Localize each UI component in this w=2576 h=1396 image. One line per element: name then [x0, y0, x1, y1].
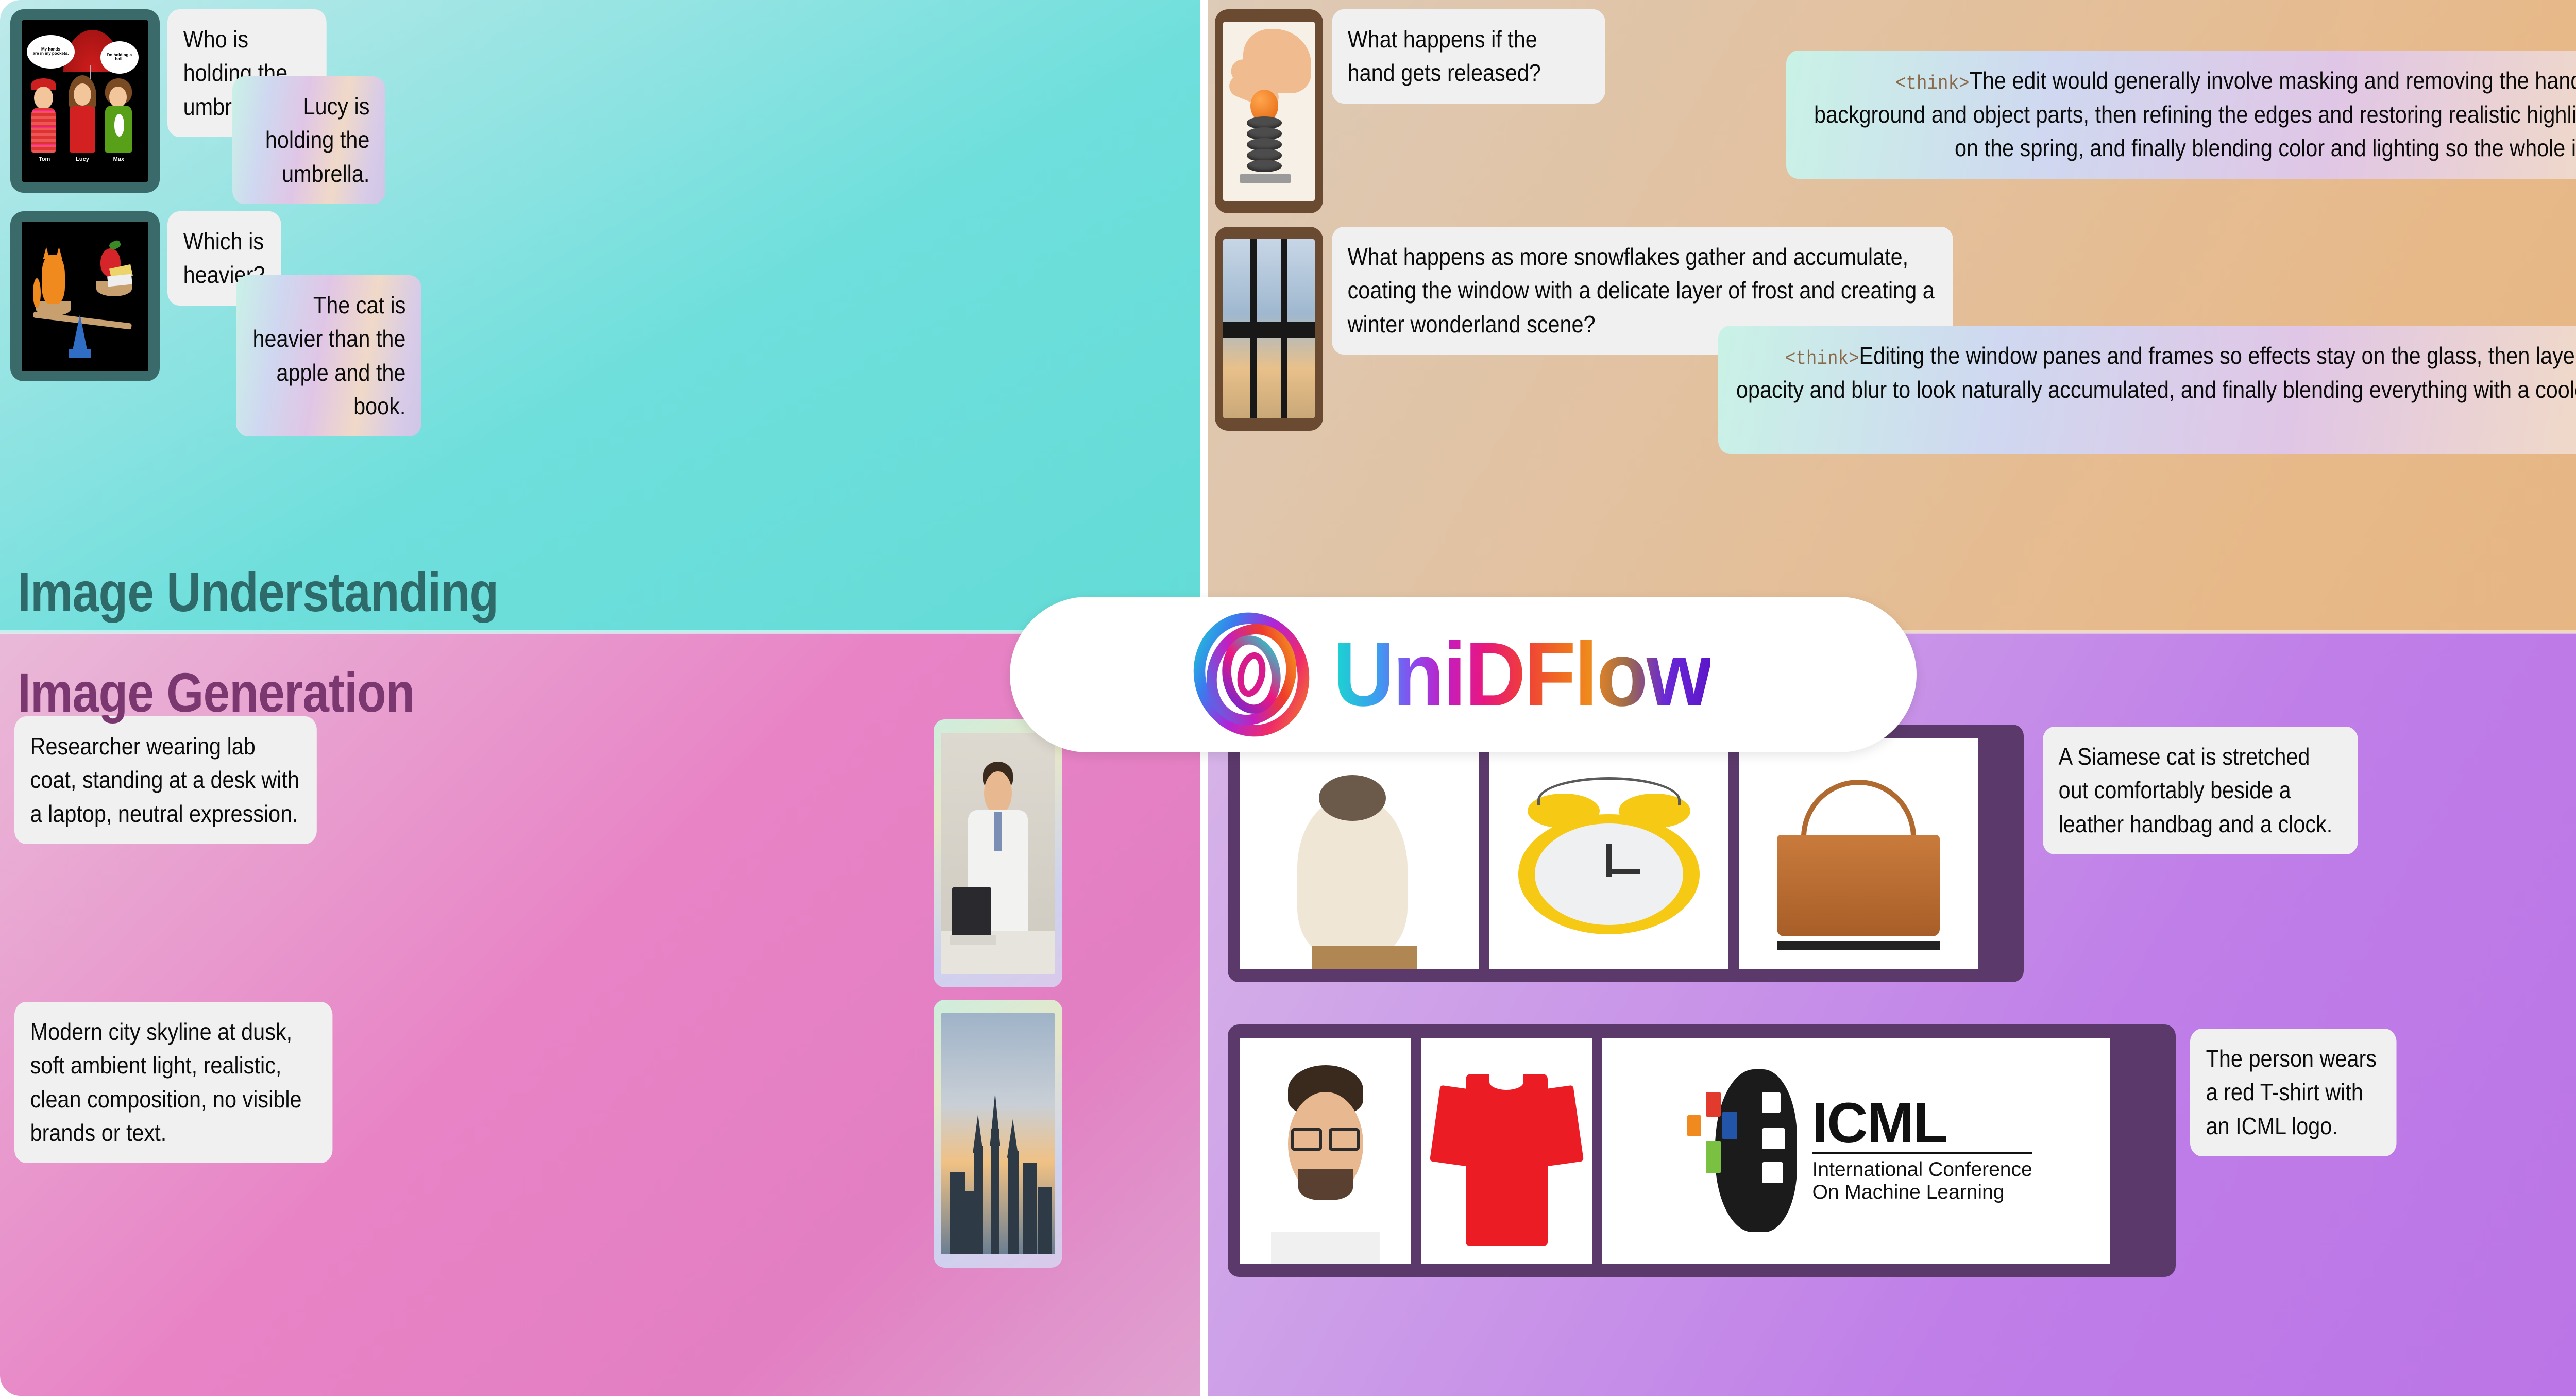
poster-canvas: My handsare in my pockets. I'm holding a…	[0, 0, 2576, 1396]
balance-scale-illustration	[22, 222, 149, 371]
reference-image-red-tshirt	[1421, 1038, 1592, 1264]
hand-on-spring-illustration	[1223, 22, 1315, 201]
flow-swirl-icon	[1187, 610, 1316, 739]
reference-image-icml-logo: ICML International Conference On Machine…	[1602, 1038, 2110, 1264]
reference-image-man-portrait	[1240, 1038, 1411, 1264]
speech-bubble-2: I'm holding aball.	[100, 41, 139, 74]
kids-umbrella-illustration: My handsare in my pockets. I'm holding a…	[22, 20, 149, 181]
editing-row-1-think-bubble: <think>The edit would generally involve …	[1786, 51, 2576, 179]
editing-row-2-think-text: Editing the window panes and frames so e…	[1736, 342, 2576, 436]
panel-divider-left	[0, 630, 1200, 634]
panel-image-generation: Researcher wearing lab coat, standing at…	[0, 633, 1200, 1396]
understanding-row-1-input-frame: My handsare in my pockets. I'm holding a…	[10, 9, 160, 193]
panel-thinking-based-image-editing: What happens if the hand gets released? …	[1208, 0, 2576, 633]
reference-image-siamese-cat	[1240, 738, 1479, 969]
multi-row-2-reference-strip: ICML International Conference On Machine…	[1228, 1024, 2176, 1277]
multi-row-1-prompt: A Siamese cat is stretched out comfortab…	[2043, 727, 2358, 854]
editing-row-1-input-frame	[1215, 9, 1323, 213]
section-title-image-generation: Image Generation	[18, 665, 415, 720]
reference-image-leather-handbag	[1739, 738, 1978, 969]
icml-brain-icon	[1680, 1069, 1797, 1232]
think-open-tag: <think>	[1785, 348, 1859, 370]
brand-logo-pill: UniDFlow	[1010, 597, 1917, 752]
generation-row-1-prompt: Researcher wearing lab coat, standing at…	[14, 716, 317, 844]
understanding-row-2-input-frame	[10, 211, 160, 381]
multi-row-1-reference-strip	[1228, 725, 2024, 982]
think-open-tag: <think>	[1895, 73, 1970, 95]
section-title-image-understanding: Image Understanding	[18, 564, 498, 620]
reference-image-alarm-clock	[1489, 738, 1728, 969]
icml-logo-subtitle-line-1: International Conference	[1812, 1158, 2032, 1181]
generation-row-2-prompt: Modern city skyline at dusk, soft ambien…	[14, 1002, 332, 1163]
icml-logo-title: ICML	[1812, 1098, 1947, 1149]
icml-logo-subtitle-line-2: On Machine Learning	[1812, 1181, 2005, 1204]
editing-row-2-input-frame	[1215, 227, 1323, 431]
kid-name-lucy: Lucy	[66, 156, 99, 162]
brand-name: UniDFlow	[1333, 629, 1710, 720]
generation-row-1-output-card	[934, 719, 1062, 987]
understanding-row-1-answer: Lucy is holding the umbrella.	[232, 76, 385, 204]
multi-row-2-prompt: The person wears a red T-shirt with an I…	[2190, 1029, 2397, 1156]
generation-row-2-output-card	[934, 1000, 1062, 1268]
speech-bubble-1: My handsare in my pockets.	[27, 35, 75, 69]
understanding-row-2-answer: The cat is heavier than the apple and th…	[236, 275, 421, 436]
winter-window-illustration	[1223, 239, 1315, 418]
panel-image-understanding: My handsare in my pockets. I'm holding a…	[0, 0, 1200, 633]
editing-row-2-think-bubble: <think>Editing the window panes and fram…	[1718, 326, 2576, 454]
generated-city-skyline-photo	[941, 1013, 1055, 1254]
editing-row-1-question: What happens if the hand gets released?	[1332, 9, 1605, 104]
kid-name-max: Max	[103, 156, 135, 162]
generated-researcher-photo	[941, 733, 1055, 974]
kid-name-tom: Tom	[29, 156, 60, 162]
